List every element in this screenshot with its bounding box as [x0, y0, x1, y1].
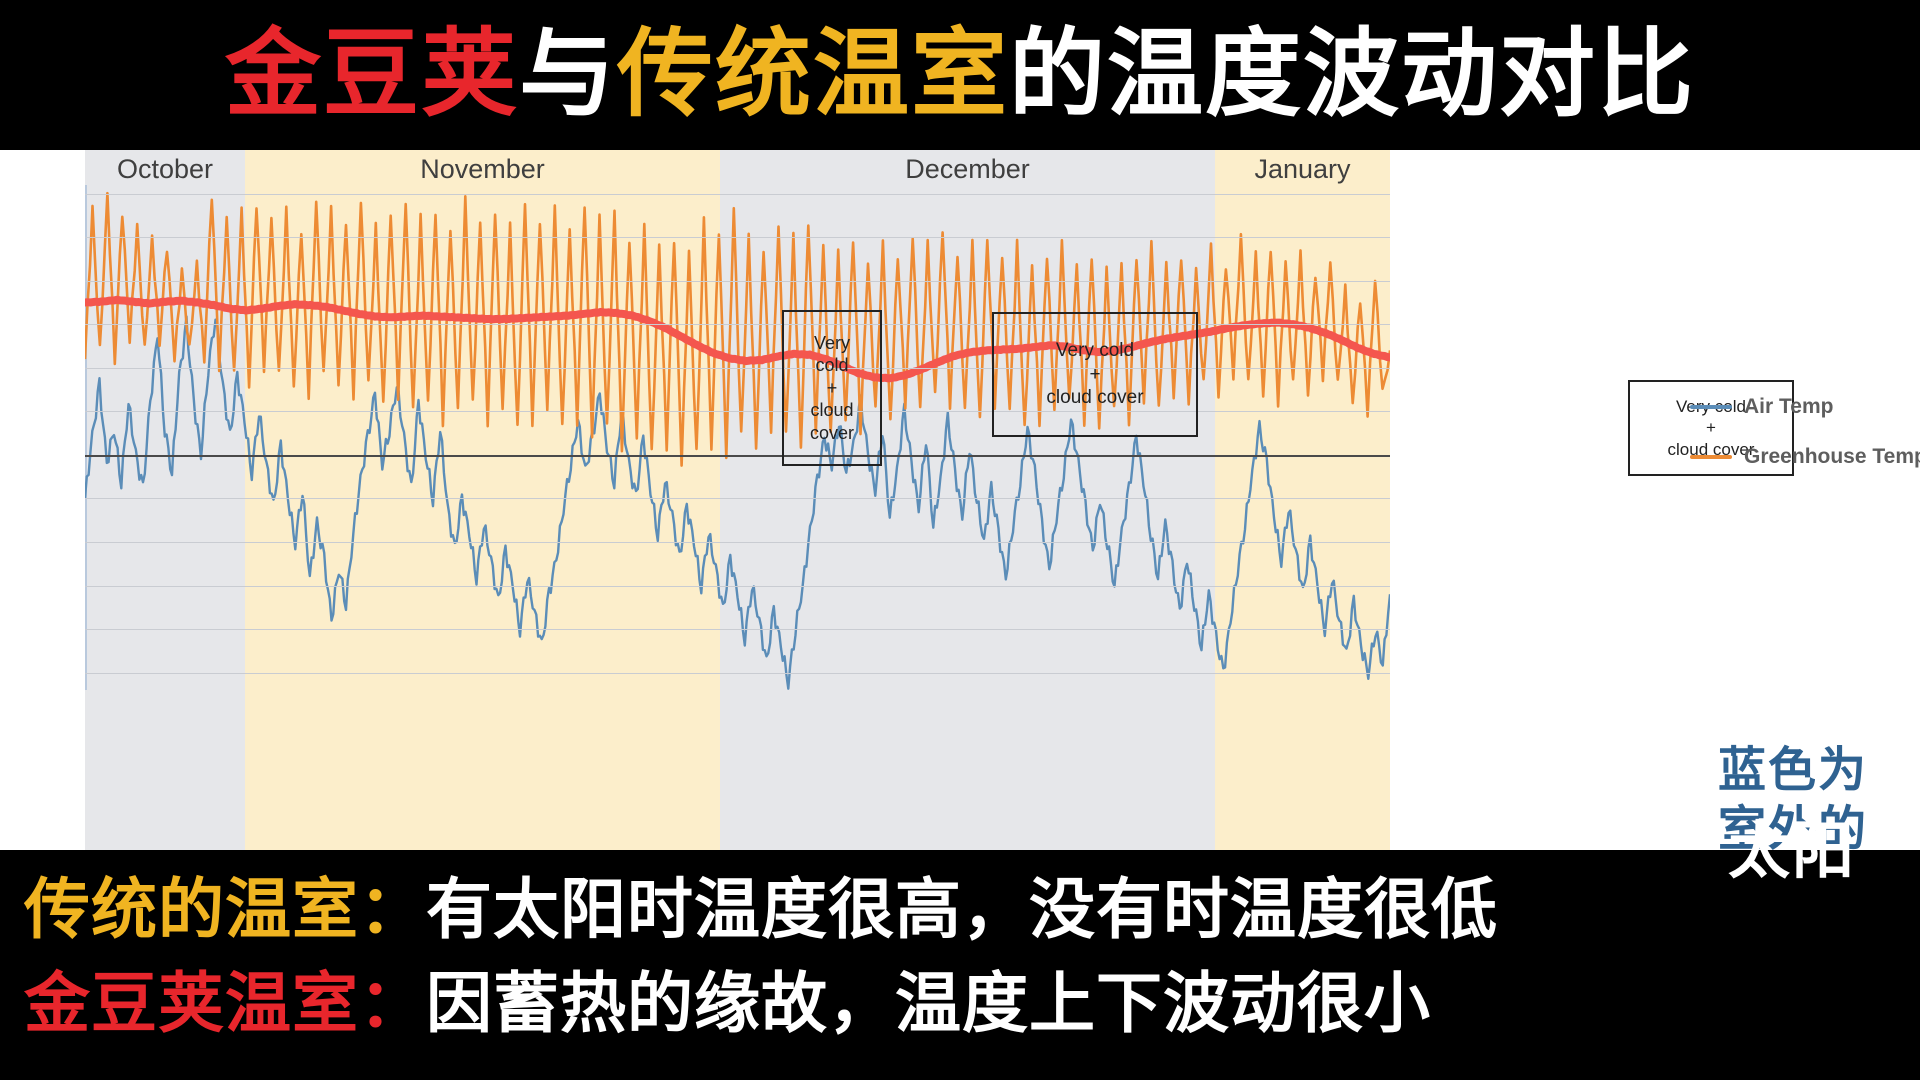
blue-annotation-line-1: 蓝色为 [1718, 742, 1868, 801]
gridline [85, 281, 1390, 282]
gridline [85, 586, 1390, 587]
gridline [85, 629, 1390, 630]
caption-line-1: 传统的温室：有太阳时温度很高，没有时温度很低 [24, 876, 1498, 942]
callout-very-cold-2: Very cold + cloud cover [992, 312, 1198, 437]
caption-line-2: 金豆荚温室：因蓄热的缘故，温度上下波动很小 [24, 970, 1431, 1036]
callout-1-line-4: cloud [810, 399, 853, 422]
caption-bar: 传统的温室：有太阳时温度很高，没有时温度很低 金豆荚温室：因蓄热的缘故，温度上下… [0, 850, 1920, 1080]
callout-1-line-5: cover [810, 422, 854, 445]
legend-swatch-air-temp [1690, 405, 1732, 409]
gridline [85, 194, 1390, 195]
callout-2-line-3: cloud cover [1046, 386, 1143, 410]
caption-1-label: 传统的温室： [24, 872, 426, 946]
gridline [85, 498, 1390, 499]
legend-label-greenhouse-temp: Greenhouse Temp [1744, 445, 1920, 469]
callout-very-cold-1: Very cold + cloud cover [782, 310, 882, 466]
gridline [85, 542, 1390, 543]
gridline [85, 237, 1390, 238]
zero-line [85, 455, 1390, 457]
chart-legend: Air Temp Greenhouse Temp [1690, 395, 1920, 495]
chart-canvas: October November December January 302520… [0, 150, 1920, 850]
callout-1-line-3: + [827, 377, 838, 400]
caption-2-text: 因蓄热的缘故，温度上下波动很小 [426, 966, 1431, 1040]
title-part-gold: 传统温室 [617, 21, 1009, 128]
caption-1-text: 有太阳时温度很高，没有时温度很低 [426, 872, 1498, 946]
plot-area [85, 185, 1390, 690]
title-part-white-1: 与 [519, 21, 617, 128]
legend-item-greenhouse-temp: Greenhouse Temp [1690, 445, 1920, 469]
callout-1-line-1: Very [814, 332, 850, 355]
title-part-red: 金豆荚 [225, 21, 519, 128]
callout-1-line-2: cold [815, 354, 848, 377]
legend-item-air-temp: Air Temp [1690, 395, 1920, 419]
chart-figure: October November December January 302520… [0, 150, 1920, 850]
title-part-white-2: 的温度波动对比 [1009, 21, 1695, 128]
overlay-sun-text: 太阳 [1728, 800, 1856, 890]
callout-2-line-2: + [1089, 363, 1100, 387]
slide-root: 金豆荚与传统温室的温度波动对比 October November Decembe… [0, 0, 1920, 1080]
legend-label-air-temp: Air Temp [1744, 395, 1833, 419]
gridline [85, 673, 1390, 674]
legend-swatch-greenhouse-temp [1690, 455, 1732, 459]
title-bar: 金豆荚与传统温室的温度波动对比 [0, 0, 1920, 150]
caption-2-label: 金豆荚温室： [24, 966, 426, 1040]
series-plot [85, 185, 1390, 690]
callout-2-line-1: Very cold [1056, 339, 1134, 363]
page-title: 金豆荚与传统温室的温度波动对比 [225, 27, 1695, 123]
